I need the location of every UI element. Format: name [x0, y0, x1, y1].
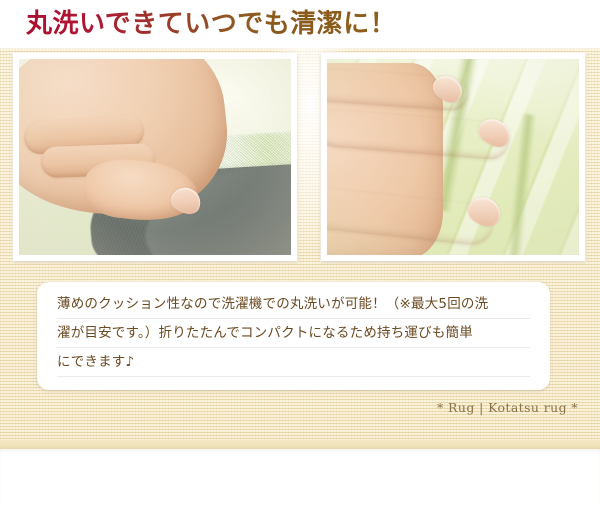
- photo-right-vignette: [327, 59, 579, 255]
- description-line-1: 薄めのクッション性なので洗濯機での丸洗いが可能！（※最大5回の洗: [57, 295, 530, 319]
- photo-right-artwork: [327, 59, 579, 255]
- page-bottom-white-band: [0, 449, 600, 505]
- photo-right-inner: [327, 59, 579, 255]
- description-line-2: 濯が目安です。）折りたたんでコンパクトになるため持ち運びも簡単: [57, 324, 530, 348]
- photo-fingers-pressing-quilt: [321, 53, 585, 261]
- description-line-3: にできます♪: [57, 353, 530, 377]
- photo-left-vignette: [19, 59, 291, 255]
- photo-left-inner: [19, 59, 291, 255]
- page-title: 丸洗いできていつでも清潔に！: [26, 7, 396, 41]
- page-root: 丸洗いできていつでも清潔に！: [0, 0, 600, 505]
- footer-caption: * Rug | Kotatsu rug *: [0, 400, 578, 415]
- photo-hand-holding-rug-edge: [13, 53, 297, 261]
- description-card: 薄めのクッション性なので洗濯機での丸洗いが可能！（※最大5回の洗 濯が目安です。…: [37, 282, 550, 390]
- photo-left-artwork: [19, 59, 291, 255]
- heading-band: 丸洗いできていつでも清潔に！: [0, 0, 600, 48]
- linen-bottom-edge: [0, 440, 600, 449]
